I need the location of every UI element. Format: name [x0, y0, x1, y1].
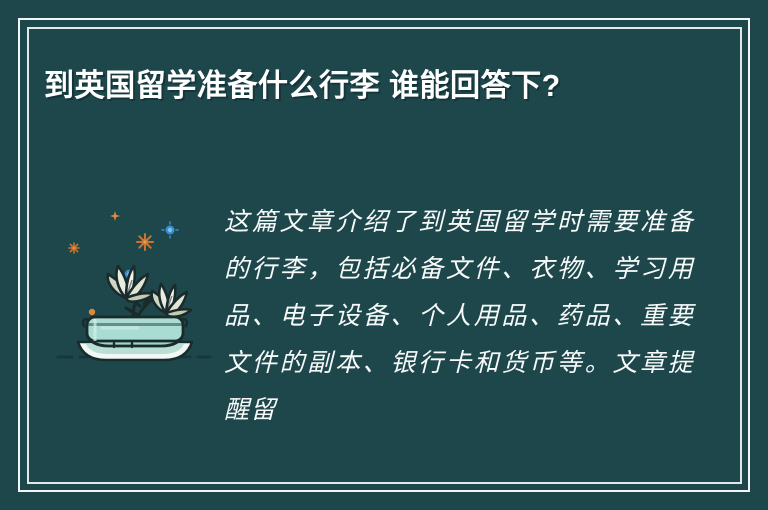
flower-right	[152, 284, 191, 317]
summary-section: 这篇文章介绍了到英国留学时需要准备的行李，包括必备文件、衣物、学习用品、电子设备…	[44, 190, 704, 455]
plant-pot	[83, 317, 187, 347]
page-title: 到英国留学准备什么行李 谁能回答下?	[44, 62, 665, 109]
article-summary-card: 到英国留学准备什么行李 谁能回答下?	[0, 0, 768, 510]
article-summary-text: 这篇文章介绍了到英国留学时需要准备的行李，包括必备文件、衣物、学习用品、电子设备…	[224, 198, 694, 433]
potted-plant-illustration	[52, 192, 217, 377]
flower-left	[108, 266, 154, 302]
